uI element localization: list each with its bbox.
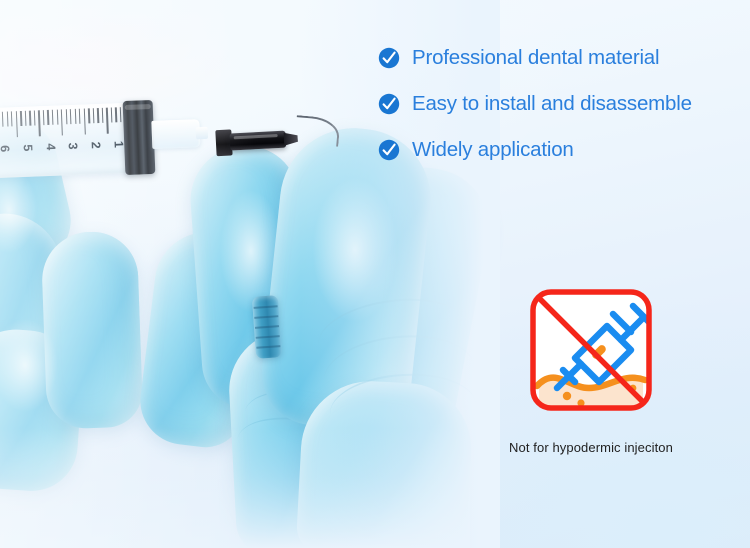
dental-irrigation-syringe: 654321: [0, 92, 209, 186]
tip-body: [229, 131, 286, 151]
syringe-graduation-number: 6: [0, 145, 12, 152]
rubber-sleeve: [252, 295, 282, 359]
feature-label: Professional dental material: [412, 46, 659, 70]
syringe-graduation-number: 5: [21, 144, 35, 151]
warning-caption: Not for hypodermic injeciton: [498, 440, 684, 455]
syringe-luer-tip: [151, 119, 200, 149]
no-hypodermic-injection-icon: [511, 286, 671, 434]
feature-label: Easy to install and disassemble: [412, 92, 692, 116]
product-banner: 654321 Professional dental material: [0, 0, 750, 548]
feature-item: Easy to install and disassemble: [378, 92, 734, 116]
check-circle-icon: [378, 93, 400, 115]
dental-curved-needle-tip: [215, 116, 342, 168]
check-circle-icon: [378, 139, 400, 161]
syringe-graduation-number: 4: [43, 143, 57, 150]
syringe-graduation-number: 3: [66, 142, 80, 149]
syringe-plunger: [123, 100, 156, 175]
feature-item: Widely application: [378, 138, 734, 162]
syringe-graduation-ticks: [0, 107, 130, 138]
feature-label: Widely application: [412, 138, 574, 162]
tip-needle: [294, 115, 340, 147]
syringe-graduation-number: 2: [89, 141, 103, 148]
check-circle-icon: [378, 47, 400, 69]
warning-badge: Not for hypodermic injeciton: [498, 286, 684, 455]
feature-list: Professional dental material Easy to ins…: [378, 46, 734, 184]
glove-palm: [296, 378, 475, 548]
glove-finger: [41, 230, 144, 429]
feature-item: Professional dental material: [378, 46, 734, 70]
